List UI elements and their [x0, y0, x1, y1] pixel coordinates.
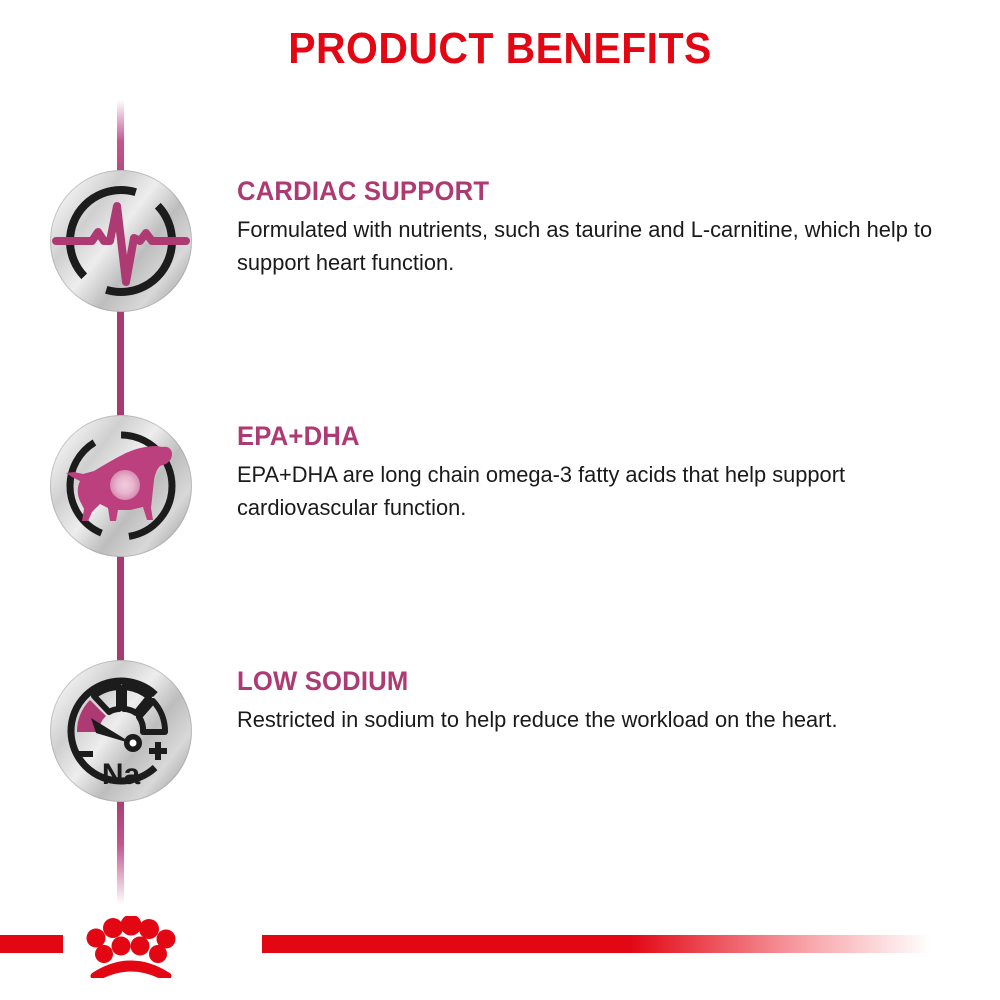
page-title: PRODUCT BENEFITS — [35, 24, 965, 74]
benefit-body: EPA+DHA are long chain omega-3 fatty aci… — [237, 458, 935, 524]
benefit-heading: EPA+DHA — [237, 421, 921, 452]
footer-bar-left — [0, 935, 63, 953]
benefit-body: Restricted in sodium to help reduce the … — [237, 703, 935, 736]
badge-epa-dha — [50, 415, 192, 557]
benefit-item-epa-dha: EPA+DHA EPA+DHA are long chain omega-3 f… — [0, 415, 1000, 585]
footer-bar-right — [262, 935, 930, 953]
gauge-na-label: Na — [102, 758, 141, 791]
benefit-body: Formulated with nutrients, such as tauri… — [237, 213, 935, 279]
badge-cardiac-support — [50, 170, 192, 312]
badge-low-sodium: Na — [50, 660, 192, 802]
sodium-gauge-icon: Na — [50, 660, 192, 802]
benefit-heading: LOW SODIUM — [237, 666, 921, 697]
footer — [0, 900, 1000, 1000]
royal-canin-crown-logo — [70, 916, 190, 978]
benefit-text-cardiac-support: CARDIAC SUPPORT Formulated with nutrient… — [237, 176, 957, 279]
benefit-heading: CARDIAC SUPPORT — [237, 176, 921, 207]
dog-silhouette-heart-icon — [50, 415, 192, 557]
benefit-text-low-sodium: LOW SODIUM Restricted in sodium to help … — [237, 666, 957, 736]
ecg-heartbeat-icon — [50, 170, 192, 312]
benefit-item-cardiac-support: CARDIAC SUPPORT Formulated with nutrient… — [0, 170, 1000, 340]
benefit-text-epa-dha: EPA+DHA EPA+DHA are long chain omega-3 f… — [237, 421, 957, 524]
benefit-item-low-sodium: Na LOW SODIUM Restricted in sodium to he… — [0, 660, 1000, 830]
